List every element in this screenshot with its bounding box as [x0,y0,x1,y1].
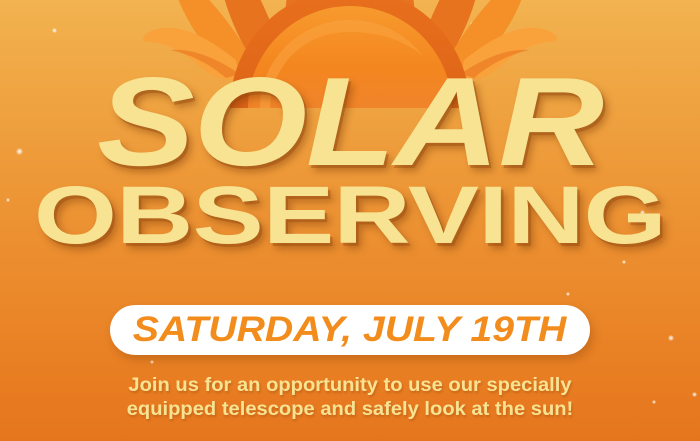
sparkle-dot [470,22,474,26]
sparkle-dot [236,16,240,20]
sparkle-dot [150,360,154,364]
event-date-pill: SATURDAY, JULY 19TH [110,305,590,355]
page-title-primary: SOLAR [0,62,700,183]
headline-block: SOLAR OBSERVING [0,62,700,255]
event-date-label: SATURDAY, JULY 19TH [133,310,566,350]
event-description-line: Join us for an opportunity to use our sp… [0,374,700,398]
solar-observing-poster: SOLAR OBSERVING SATURDAY, JULY 19TH Join… [0,0,700,441]
sparkle-dot [668,335,674,341]
sparkle-dot [52,28,57,33]
event-description: Join us for an opportunity to use our sp… [0,374,700,423]
sparkle-dot [566,292,570,296]
event-description-line: equipped telescope and safely look at th… [0,398,700,422]
page-title-secondary: OBSERVING [0,177,700,255]
